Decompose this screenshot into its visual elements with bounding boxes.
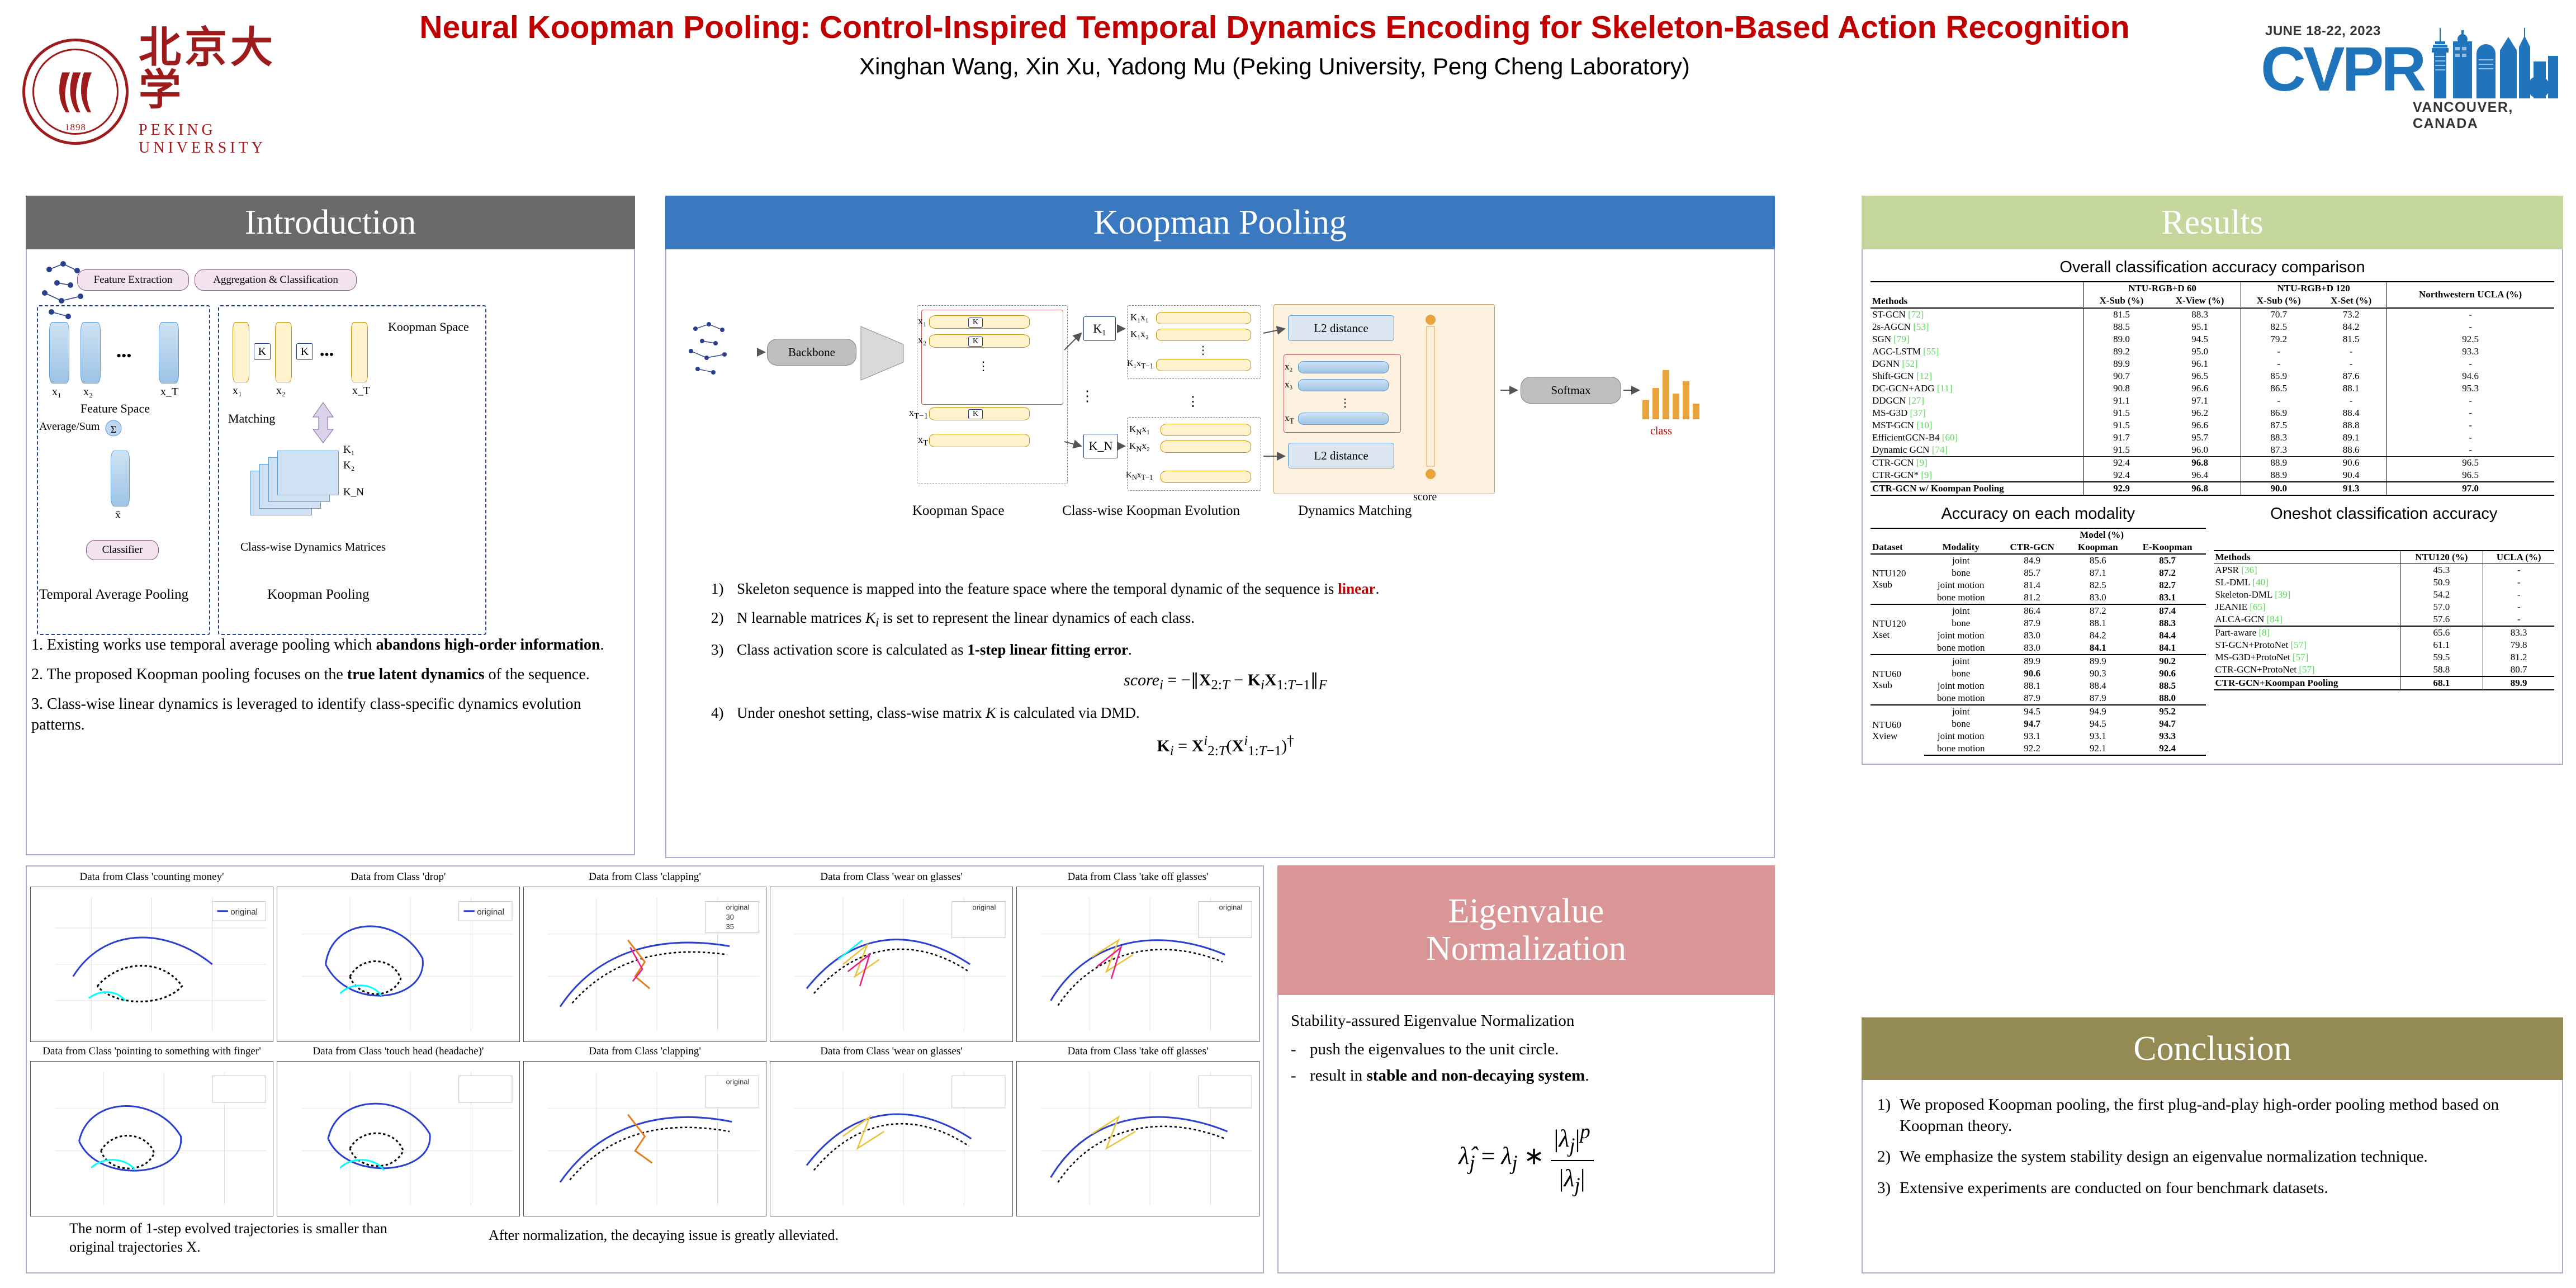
- skeleton-points-icon: [680, 315, 758, 388]
- value-cell: 81.5: [2316, 333, 2386, 345]
- value-cell: 92.4: [2129, 742, 2206, 755]
- value-cell: 70.7: [2241, 308, 2316, 321]
- table-row: CTR-GCN+Koompan Pooling68.189.9: [2214, 676, 2555, 690]
- value-cell: 90.6: [2129, 667, 2206, 680]
- table-row: CTR-GCN w/ Koompan Pooling92.996.890.091…: [1871, 482, 2554, 495]
- overall-rows-ours: CTR-GCN [9]92.496.888.990.696.5CTR-GCN* …: [1871, 457, 2554, 496]
- value-cell: 88.0: [2129, 692, 2206, 705]
- value-cell: 91.1: [2083, 395, 2158, 407]
- class-histogram-icon: [1639, 359, 1717, 424]
- value-cell: 88.3: [2241, 432, 2316, 444]
- plot-canvas: original 30 35: [523, 887, 766, 1042]
- koopman-pooling-caption: Koopman Pooling: [267, 587, 370, 603]
- method-name: CTR-GCN w/ Koompan Pooling: [1871, 482, 2083, 495]
- value-cell: 95.7: [2159, 432, 2241, 444]
- xT-label: x_T: [352, 385, 370, 397]
- table-row: DC-GCN+ADG [11]90.896.686.588.195.3: [1871, 382, 2554, 395]
- vancouver-skyline-icon: [2418, 25, 2558, 98]
- funnel-shape: [859, 322, 909, 383]
- value-cell: 83.0: [1998, 642, 2067, 655]
- plot-caption: Data from Class 'counting money': [79, 871, 224, 887]
- value-cell: 86.4: [1998, 604, 2067, 617]
- col-model-group: Model (%): [1998, 528, 2206, 541]
- dataset-name: NTU60Xsub: [1871, 655, 1924, 705]
- plot-row-1: Data from Class 'counting money' origina…: [30, 871, 1259, 1042]
- col-xsub60: X-Sub (%): [2083, 295, 2158, 308]
- value-cell: 95.3: [2386, 382, 2554, 395]
- method-name: SL-DML [40]: [2214, 576, 2400, 589]
- value-cell: -: [2483, 564, 2554, 577]
- citation-ref: [10]: [1916, 420, 1932, 430]
- koopman-point-4: 4)Under oneshot setting, class-wise matr…: [711, 703, 1740, 723]
- value-cell: 88.5: [2129, 680, 2206, 692]
- cvpr-wordmark: CVPR: [2261, 38, 2423, 101]
- value-cell: 94.5: [2067, 718, 2129, 730]
- oneshot-rows-ours: CTR-GCN+Koompan Pooling68.189.9: [2214, 676, 2555, 690]
- value-cell: 94.5: [1998, 705, 2067, 718]
- col-modality: Modality: [1924, 528, 1998, 554]
- table-row: SL-DML [40]50.9-: [2214, 576, 2555, 589]
- value-cell: 94.7: [2129, 718, 2206, 730]
- value-cell: 88.4: [2316, 407, 2386, 419]
- value-cell: 91.5: [2083, 444, 2158, 457]
- value-cell: -: [2316, 345, 2386, 358]
- citation-ref: [65]: [2250, 602, 2265, 612]
- citation-ref: [84]: [2267, 614, 2283, 624]
- value-cell: 57.6: [2400, 613, 2483, 626]
- value-cell: 93.3: [2129, 730, 2206, 742]
- value-cell: 87.2: [2129, 567, 2206, 579]
- table-row: APSR [36]45.3-: [2214, 564, 2555, 577]
- value-cell: 83.0: [2067, 591, 2129, 604]
- modality-name: joint: [1924, 705, 1998, 718]
- page-title: Neural Koopman Pooling: Control-Inspired…: [313, 9, 2236, 46]
- table-row: CTR-GCN+ProtoNet [57]58.880.7: [2214, 664, 2555, 676]
- value-cell: 90.6: [1998, 667, 2067, 680]
- feature-space-label: Feature Space: [80, 401, 150, 416]
- method-name: Shift-GCN [12]: [1871, 370, 2083, 382]
- value-cell: 96.5: [2386, 457, 2554, 470]
- modality-name: joint motion: [1924, 680, 1998, 692]
- table-row: CTR-GCN* [9]92.496.488.990.496.5: [1871, 469, 2554, 482]
- value-cell: 95.1: [2159, 321, 2241, 333]
- feature-cylinder: [159, 322, 179, 383]
- value-cell: -: [2483, 576, 2554, 589]
- citation-ref: [39]: [2275, 589, 2290, 600]
- dynamics-matching-caption: Dynamics Matching: [1298, 503, 1412, 519]
- koopman-point-3: 3)Class activation score is calculated a…: [711, 640, 1740, 660]
- plot-canvas: original: [1016, 887, 1259, 1042]
- peking-university-logo: 1898 北京大学 PEKING UNIVERSITY: [22, 8, 280, 176]
- method-name: Part-aware [8]: [2214, 626, 2400, 639]
- value-cell: 87.2: [2067, 604, 2129, 617]
- modality-name: bone: [1924, 617, 1998, 629]
- value-cell: 45.3: [2400, 564, 2483, 577]
- modality-table-title: Accuracy on each modality: [1871, 505, 2206, 523]
- citation-ref: [12]: [1916, 371, 1932, 381]
- modality-name: joint: [1924, 604, 1998, 617]
- value-cell: 86.5: [2241, 382, 2316, 395]
- koopman-pooling-body: Backbone x₁ x₂ xT−1 xT ⋮ K K K K₁ K_N K₁…: [665, 249, 1775, 858]
- citation-ref: [57]: [2291, 640, 2307, 650]
- value-cell: 91.7: [2083, 432, 2158, 444]
- modality-rows: NTU120Xsubjoint84.985.685.7bone85.787.18…: [1871, 554, 2206, 755]
- value-cell: -: [2386, 444, 2554, 457]
- citation-ref: [74]: [1932, 444, 1948, 455]
- value-cell: -: [2316, 358, 2386, 370]
- plot-cell: Data from Class 'touch head (headache)': [277, 1045, 520, 1216]
- pku-seal-figures: [45, 61, 106, 122]
- value-cell: 93.1: [1998, 730, 2067, 742]
- value-cell: 81.2: [2483, 651, 2554, 664]
- table-row: MST-GCN [10]91.596.687.588.8-: [1871, 419, 2554, 432]
- citation-ref: [53]: [1913, 321, 1929, 332]
- table-row: EfficientGCN-B4 [60]91.795.788.389.1-: [1871, 432, 2554, 444]
- citation-ref: [52]: [1902, 358, 1917, 369]
- koopman-point-2: 2)N learnable matrices Ki is set to repr…: [711, 608, 1740, 631]
- table-row: MS-G3D+ProtoNet [57]59.581.2: [2214, 651, 2555, 664]
- table-row: NTU60Xviewjoint94.594.995.2: [1871, 705, 2206, 718]
- value-cell: 87.9: [1998, 617, 2067, 629]
- koopman-point-1: 1)Skeleton sequence is mapped into the f…: [711, 579, 1740, 599]
- col-dataset: Dataset: [1871, 528, 1924, 554]
- col-methods: Methods: [1871, 282, 2083, 308]
- value-cell: 87.9: [2067, 692, 2129, 705]
- svg-text:original: original: [726, 903, 750, 912]
- value-cell: 90.2: [2129, 655, 2206, 667]
- value-cell: 88.4: [2067, 680, 2129, 692]
- pku-seal-year: 1898: [65, 122, 86, 133]
- col-xview60: X-View (%): [2159, 295, 2241, 308]
- value-cell: -: [2483, 613, 2554, 626]
- x1-label: x₁: [233, 385, 242, 397]
- method-name: EfficientGCN-B4 [60]: [1871, 432, 2083, 444]
- value-cell: 89.9: [2067, 655, 2129, 667]
- oneshot-accuracy-table: Methods NTU120 (%) UCLA (%) APSR [36]45.…: [2214, 550, 2555, 690]
- modality-name: joint motion: [1924, 579, 1998, 591]
- koopman-cylinder: [275, 322, 292, 382]
- value-cell: 80.7: [2483, 664, 2554, 676]
- pooled-feature-cylinder: [111, 451, 130, 506]
- value-cell: 65.6: [2400, 626, 2483, 639]
- pku-logo-chinese: 北京大学: [139, 26, 280, 111]
- value-cell: 89.0: [2083, 333, 2158, 345]
- plot-row-2: Data from Class 'pointing to something w…: [30, 1045, 1259, 1216]
- citation-ref: [79]: [1893, 334, 1909, 344]
- value-cell: 85.7: [2129, 554, 2206, 567]
- value-cell: 88.5: [2083, 321, 2158, 333]
- feature-cylinder: [49, 322, 69, 383]
- plot-cell: Data from Class 'wear on glasses': [770, 1045, 1013, 1216]
- value-cell: 88.3: [2159, 308, 2241, 321]
- value-cell: 83.0: [1998, 629, 2067, 642]
- plot-caption: Data from Class 'clapping': [589, 1045, 701, 1061]
- value-cell: -: [2386, 432, 2554, 444]
- plot-canvas: original: [523, 1061, 766, 1216]
- eigenvalue-normalization-section: Eigenvalue Normalization Stability-assur…: [1277, 865, 1775, 1273]
- class-wise-evolution-caption: Class-wise Koopman Evolution: [1062, 503, 1240, 519]
- value-cell: 92.5: [2386, 333, 2554, 345]
- plot-caption: Data from Class 'wear on glasses': [820, 1045, 962, 1061]
- plot-cell: Data from Class 'take off glasses' origi…: [1016, 871, 1259, 1042]
- method-name: DGNN [52]: [1871, 358, 2083, 370]
- citation-ref: [11]: [1937, 383, 1953, 394]
- ellipsis: •••: [320, 348, 334, 363]
- dmd-equation: Ki = Xi2:T(Xi1:T−1)†: [711, 732, 1740, 761]
- value-cell: 92.4: [2083, 469, 2158, 482]
- class-label: class: [1650, 425, 1672, 438]
- modality-table-wrap: Accuracy on each modality Dataset Modali…: [1871, 501, 2206, 756]
- value-cell: 84.4: [2129, 629, 2206, 642]
- koopman-pooling-section: Koopman Pooling Backbone x₁ x₂ xT−1 xT ⋮: [665, 196, 1775, 858]
- method-name: SGN [79]: [1871, 333, 2083, 345]
- value-cell: 54.2: [2400, 589, 2483, 601]
- dynamics-matrices-stack: [250, 445, 340, 518]
- value-cell: 96.5: [2159, 370, 2241, 382]
- plot-canvas: original: [277, 887, 520, 1042]
- value-cell: 87.4: [2129, 604, 2206, 617]
- plot-canvas: original: [30, 887, 273, 1042]
- svg-text:35: 35: [726, 922, 734, 931]
- feature-extraction-pill: Feature Extraction: [77, 269, 189, 291]
- method-name: CTR-GCN [9]: [1871, 457, 2083, 470]
- value-cell: 88.1: [2067, 617, 2129, 629]
- value-cell: 96.4: [2159, 469, 2241, 482]
- plot-cell: Data from Class 'clapping' original: [523, 1045, 766, 1216]
- cvpr-logo: JUNE 18-22, 2023: [2251, 11, 2564, 140]
- value-cell: 88.1: [1998, 680, 2067, 692]
- value-cell: 89.9: [2083, 358, 2158, 370]
- feature-cylinder: [80, 322, 101, 383]
- xT-label: x_T: [160, 386, 178, 399]
- method-name: CTR-GCN* [9]: [1871, 469, 2083, 482]
- value-cell: 91.5: [2083, 407, 2158, 419]
- col-ekoopman: E-Koopman: [2129, 541, 2206, 554]
- value-cell: 88.3: [2129, 617, 2206, 629]
- value-cell: -: [2483, 589, 2554, 601]
- plot-canvas: [277, 1061, 520, 1216]
- citation-ref: [57]: [2299, 664, 2314, 675]
- value-cell: 79.8: [2483, 639, 2554, 651]
- plot-cell: Data from Class 'counting money' origina…: [30, 871, 273, 1042]
- value-cell: 61.1: [2400, 639, 2483, 651]
- plot-caption: Data from Class 'clapping': [589, 871, 701, 887]
- poster-header: 1898 北京大学 PEKING UNIVERSITY Neural Koopm…: [0, 0, 2576, 190]
- up-down-arrow-icon: [306, 400, 340, 445]
- average-sum-label: Average/Sum: [39, 420, 100, 433]
- modality-name: bone: [1924, 667, 1998, 680]
- plot-caption: Data from Class 'drop': [351, 871, 446, 887]
- dataset-name: NTU120Xset: [1871, 604, 1924, 655]
- modality-name: bone: [1924, 718, 1998, 730]
- table-row: ALCA-GCN [84]57.6-: [2214, 613, 2555, 626]
- method-name: JEANIE [65]: [2214, 601, 2400, 613]
- value-cell: 92.1: [2067, 742, 2129, 755]
- x2-label: x₂: [276, 385, 286, 397]
- koopman-cylinder: [351, 322, 368, 382]
- col-xsub120: X-Sub (%): [2241, 295, 2316, 308]
- class-wise-matrices-caption: Class-wise Dynamics Matrices: [240, 540, 386, 554]
- value-cell: 96.0: [2159, 444, 2241, 457]
- value-cell: 58.8: [2400, 664, 2483, 676]
- table-row: AGC-LSTM [55]89.295.0--93.3: [1871, 345, 2554, 358]
- value-cell: 89.9: [2483, 676, 2554, 690]
- table-row: Shift-GCN [12]90.796.585.987.694.6: [1871, 370, 2554, 382]
- col-ntu120: NTU120 (%): [2400, 551, 2483, 564]
- method-name: DC-GCN+ADG [11]: [1871, 382, 2083, 395]
- conclusion-body: 1) We proposed Koopman pooling, the firs…: [1862, 1080, 2563, 1273]
- value-cell: 95.0: [2159, 345, 2241, 358]
- value-cell: 73.2: [2316, 308, 2386, 321]
- value-cell: 84.1: [2067, 642, 2129, 655]
- value-cell: 83.3: [2483, 626, 2554, 639]
- koopman-space-caption: Koopman Space: [912, 503, 1005, 519]
- svg-text:original: original: [726, 1078, 750, 1086]
- value-cell: 90.8: [2083, 382, 2158, 395]
- value-cell: -: [2241, 358, 2316, 370]
- citation-ref: [8]: [2258, 627, 2270, 638]
- value-cell: 94.6: [2386, 370, 2554, 382]
- table-row: Dynamic GCN [74]91.596.087.388.6-: [1871, 444, 2554, 457]
- value-cell: 96.6: [2159, 382, 2241, 395]
- plot-cell: Data from Class 'drop' original: [277, 871, 520, 1042]
- value-cell: 90.6: [2316, 457, 2386, 470]
- value-cell: 59.5: [2400, 651, 2483, 664]
- value-cell: -: [2386, 407, 2554, 419]
- value-cell: 92.4: [2083, 457, 2158, 470]
- col-xset120: X-Set (%): [2316, 295, 2386, 308]
- kn-matrix-box: K_N: [1083, 434, 1118, 458]
- citation-ref: [57]: [2293, 652, 2308, 662]
- plot-canvas: original: [770, 887, 1013, 1042]
- oneshot-rows-group1: APSR [36]45.3-SL-DML [40]50.9-Skeleton-D…: [2214, 564, 2555, 627]
- citation-ref: [37]: [1910, 408, 1926, 418]
- plot-cell: Data from Class 'clapping' original 30 3…: [523, 871, 766, 1042]
- table-row: 2s-AGCN [53]88.595.182.584.2-: [1871, 321, 2554, 333]
- value-cell: 89.2: [2083, 345, 2158, 358]
- value-cell: 87.5: [2241, 419, 2316, 432]
- value-cell: -: [2386, 358, 2554, 370]
- ellipsis: •••: [116, 348, 131, 364]
- citation-ref: [9]: [1916, 457, 1928, 468]
- plot-caption: Data from Class 'touch head (headache)': [313, 1045, 484, 1061]
- value-cell: 81.4: [1998, 579, 2067, 591]
- matching-label: Matching: [228, 411, 275, 426]
- method-name: MS-G3D+ProtoNet [57]: [2214, 651, 2400, 664]
- modality-name: bone motion: [1924, 692, 1998, 705]
- aggregation-classification-pill: Aggregation & Classification: [195, 269, 357, 291]
- value-cell: 88.8: [2316, 419, 2386, 432]
- backbone-box: Backbone: [767, 339, 856, 366]
- value-cell: 85.6: [2067, 554, 2129, 567]
- koopman-space-label: Koopman Space: [388, 320, 469, 334]
- oneshot-rows-group2: Part-aware [8]65.683.3ST-GCN+ProtoNet [5…: [2214, 626, 2555, 676]
- method-name: MST-GCN [10]: [1871, 419, 2083, 432]
- value-cell: 83.1: [2129, 591, 2206, 604]
- value-cell: 82.7: [2129, 579, 2206, 591]
- method-name: 2s-AGCN [53]: [1871, 321, 2083, 333]
- results-body: Overall classification accuracy comparis…: [1862, 249, 2563, 765]
- conclusion-banner: Conclusion: [1862, 1017, 2563, 1080]
- value-cell: 93.1: [2067, 730, 2129, 742]
- col-methods: Methods: [2214, 551, 2400, 564]
- value-cell: 93.3: [2386, 345, 2554, 358]
- method-name: Dynamic GCN [74]: [1871, 444, 2083, 457]
- intro-point-1: 1. Existing works use temporal average p…: [31, 635, 624, 656]
- conclusion-item-2: 2) We emphasize the system stability des…: [1877, 1147, 2547, 1168]
- table-header-group-row: Methods NTU-RGB+D 60 NTU-RGB+D 120 North…: [1871, 282, 2554, 295]
- value-cell: -: [2386, 395, 2554, 407]
- k1-matrix-box: K₁: [1083, 316, 1116, 341]
- svg-text:original: original: [973, 903, 996, 912]
- conclusion-item-3: 3) Extensive experiments are conducted o…: [1877, 1178, 2547, 1199]
- method-name: ST-GCN [72]: [1871, 308, 2083, 321]
- method-name: APSR [36]: [2214, 564, 2400, 577]
- citation-ref: [40]: [2252, 577, 2268, 588]
- value-cell: -: [2386, 321, 2554, 333]
- eigenvalue-bullet-1: -push the eigenvalues to the unit circle…: [1291, 1038, 1761, 1061]
- col-group-ntu120: NTU-RGB+D 120: [2241, 282, 2386, 295]
- k-matrix-box: K: [254, 343, 271, 360]
- value-cell: 91.3: [2316, 482, 2386, 495]
- table-row: ST-GCN [72]81.588.370.773.2-: [1871, 308, 2554, 321]
- modality-name: bone motion: [1924, 642, 1998, 655]
- value-cell: 91.5: [2083, 419, 2158, 432]
- plots-captions: The norm of 1-step evolved trajectories …: [30, 1220, 1259, 1268]
- modality-name: joint motion: [1924, 629, 1998, 642]
- value-cell: 86.9: [2241, 407, 2316, 419]
- value-cell: 87.9: [1998, 692, 2067, 705]
- value-cell: 94.9: [2067, 705, 2129, 718]
- plot-canvas: [30, 1061, 273, 1216]
- koopman-cylinder: [233, 322, 249, 382]
- sum-arrow-icon: Σ: [100, 416, 127, 441]
- conclusion-section: Conclusion 1) We proposed Koopman poolin…: [1862, 1017, 2563, 1273]
- value-cell: 68.1: [2400, 676, 2483, 690]
- plot-cell: Data from Class 'pointing to something w…: [30, 1045, 273, 1216]
- table-row: NTU120Xsetjoint86.487.287.4: [1871, 604, 2206, 617]
- modality-header-row-1: Dataset Modality Model (%): [1871, 528, 2206, 541]
- value-cell: 85.7: [1998, 567, 2067, 579]
- value-cell: 82.5: [2067, 579, 2129, 591]
- value-cell: -: [2241, 345, 2316, 358]
- citation-ref: [72]: [1908, 309, 1924, 320]
- pku-logo-english: PEKING UNIVERSITY: [139, 121, 280, 157]
- plot-caption: Data from Class 'wear on glasses': [820, 871, 962, 887]
- value-cell: -: [2316, 395, 2386, 407]
- poster-authors: Xinghan Wang, Xin Xu, Yadong Mu (Peking …: [313, 53, 2236, 80]
- table-row: ST-GCN+ProtoNet [57]61.179.8: [2214, 639, 2555, 651]
- softmax-box: Softmax: [1521, 377, 1621, 404]
- pku-seal-icon: 1898: [22, 39, 129, 145]
- citation-ref: [27]: [1909, 395, 1924, 406]
- value-cell: 96.1: [2159, 358, 2241, 370]
- value-cell: 79.2: [2241, 333, 2316, 345]
- value-cell: 84.1: [2129, 642, 2206, 655]
- plots-caption-right: After normalization, the decaying issue …: [388, 1220, 1259, 1268]
- table-row: Part-aware [8]65.683.3: [2214, 626, 2555, 639]
- score-bar-icon: [1422, 311, 1439, 484]
- value-cell: -: [2483, 601, 2554, 613]
- dataset-name: NTU60Xview: [1871, 705, 1924, 755]
- oneshot-table-title: Oneshot classification accuracy: [2214, 505, 2555, 523]
- svg-text:original: original: [477, 907, 504, 917]
- value-cell: -: [2241, 395, 2316, 407]
- value-cell: 97.0: [2386, 482, 2554, 495]
- l2-distance-box-1: L2 distance: [1288, 315, 1394, 341]
- score-equation: scorei = −∥X2:T − KiX1:T−1∥F: [711, 669, 1740, 695]
- method-name: DDGCN [27]: [1871, 395, 2083, 407]
